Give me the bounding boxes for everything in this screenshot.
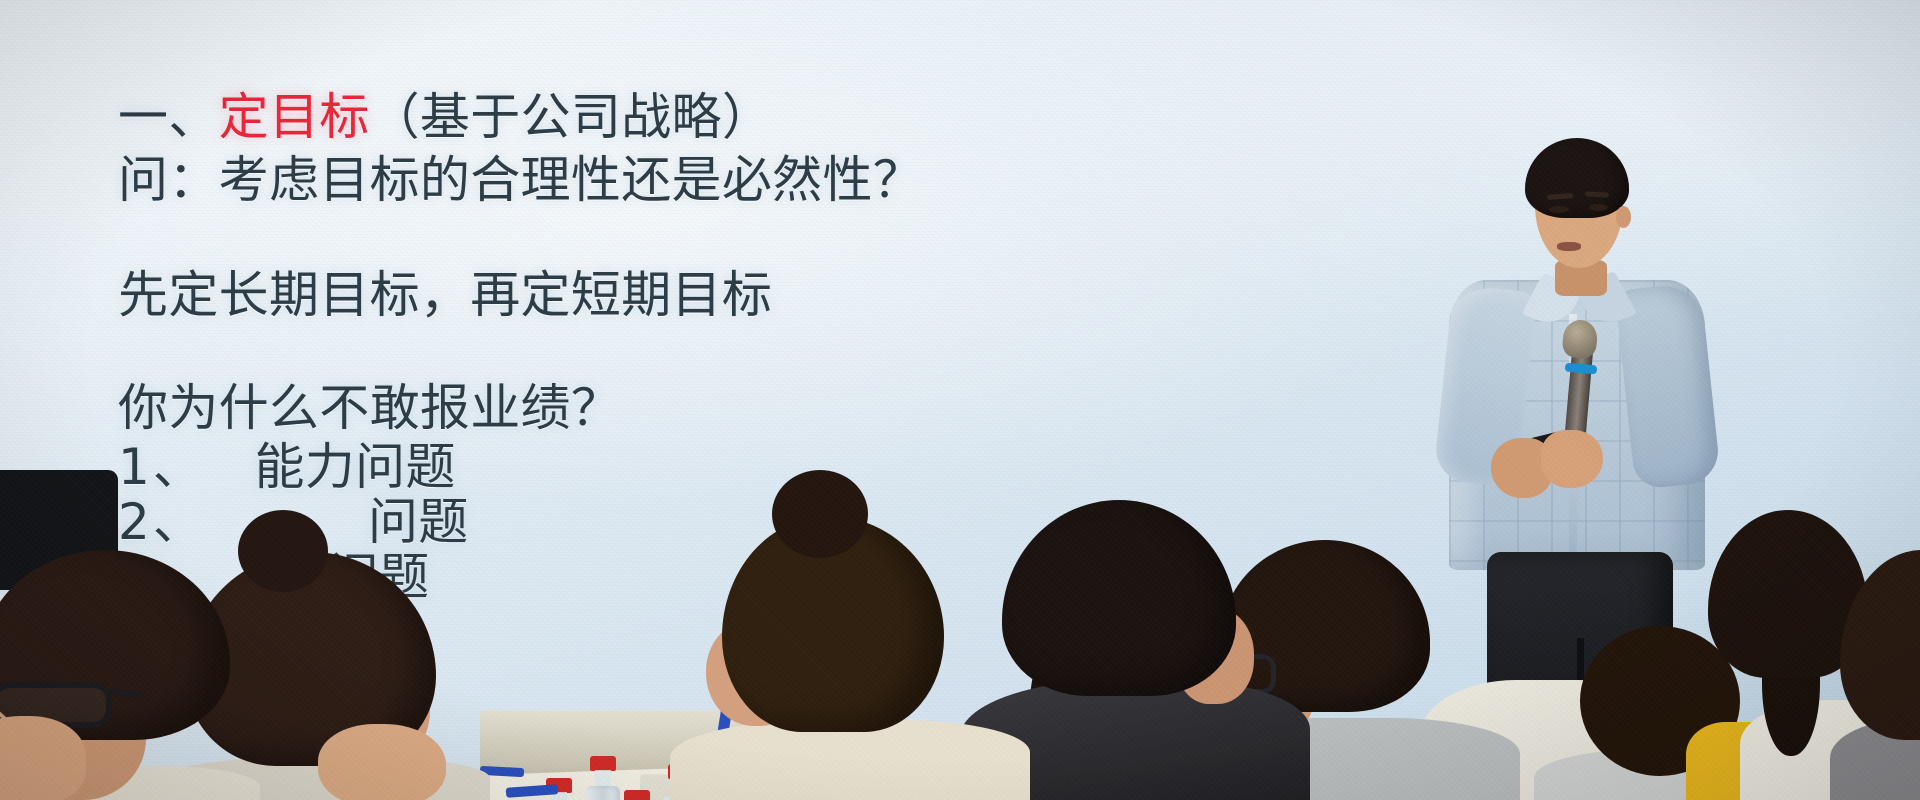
slide-heading: 一、定目标（基于公司战略）	[118, 92, 1498, 143]
slide-point-2: 你为什么不敢报业绩？	[118, 383, 1498, 434]
slide-point-1: 先定长期目标，再定短期目标	[118, 270, 1498, 321]
presenter-mouth	[1557, 242, 1581, 251]
heading-highlight: 定目标	[219, 88, 370, 146]
audience-member	[0, 550, 270, 800]
seminar-photo: 一、定目标（基于公司战略） 问：考虑目标的合理性还是必然性？ 先定长期目标，再定…	[0, 0, 1920, 800]
slide-question: 问：考虑目标的合理性还是必然性？	[118, 155, 1498, 206]
list-number-1: 1、	[118, 438, 206, 496]
audience-member	[700, 470, 1000, 800]
bottle-cap	[624, 790, 650, 800]
presenter-right-hand	[1541, 430, 1603, 488]
audience-hand	[318, 724, 446, 800]
presenter-ear	[1616, 206, 1631, 228]
heading-prefix: 一、	[118, 88, 219, 146]
presenter-hair	[1525, 138, 1629, 218]
audience-shoulders	[670, 720, 1030, 800]
presenter-eye-right	[1589, 204, 1608, 211]
bottle-body	[586, 786, 620, 800]
audience-head	[1002, 500, 1236, 696]
bottle-cap	[590, 756, 616, 771]
audience-member	[1840, 550, 1920, 800]
list-text-1: 能力问题	[254, 438, 455, 496]
audience-hair-bun	[772, 470, 868, 558]
presenter-eye-left	[1549, 206, 1569, 213]
audience-head	[1840, 550, 1920, 740]
heading-suffix: （基于公司战略）	[370, 88, 773, 146]
